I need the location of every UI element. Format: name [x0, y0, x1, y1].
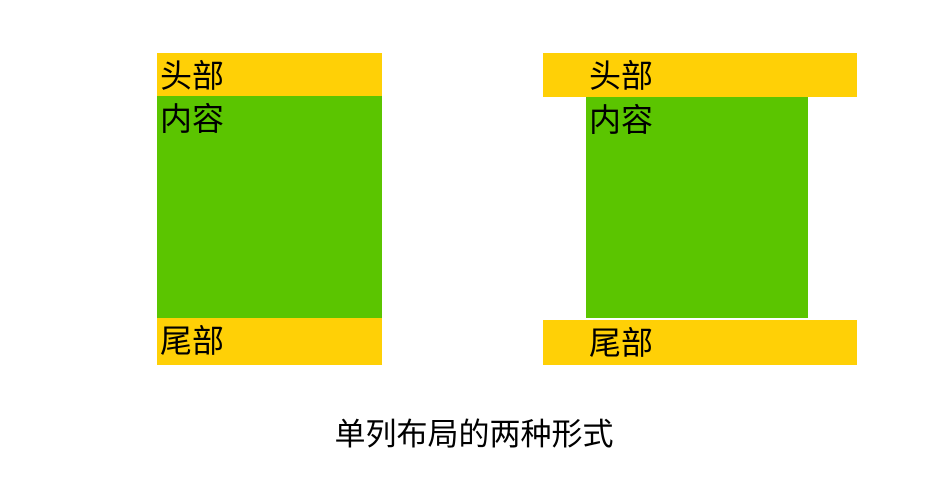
layout-footer-label-a: 尾部	[160, 322, 224, 360]
layout-header-label-a: 头部	[160, 57, 224, 95]
figure-caption: 单列布局的两种形式	[0, 415, 948, 455]
layout-diagram-variant-b: 头部 内容 尾部	[543, 53, 857, 365]
layout-header-block-b: 头部	[543, 53, 857, 97]
layout-diagram-variant-a: 头部 内容 尾部	[157, 53, 382, 365]
layout-content-label-b: 内容	[589, 101, 653, 139]
layout-footer-block-a: 尾部	[157, 318, 382, 365]
single-column-layout-figure: 头部 内容 尾部 头部 内容 尾部 单列布局的两种形式	[0, 0, 948, 488]
layout-header-block-a: 头部	[157, 53, 382, 96]
layout-header-label-b: 头部	[589, 57, 653, 95]
layout-content-block-b: 内容	[586, 97, 808, 318]
layout-footer-label-b: 尾部	[589, 324, 653, 362]
layout-content-label-a: 内容	[160, 100, 224, 138]
layout-content-block-a: 内容	[157, 96, 382, 318]
layout-footer-block-b: 尾部	[543, 320, 857, 365]
